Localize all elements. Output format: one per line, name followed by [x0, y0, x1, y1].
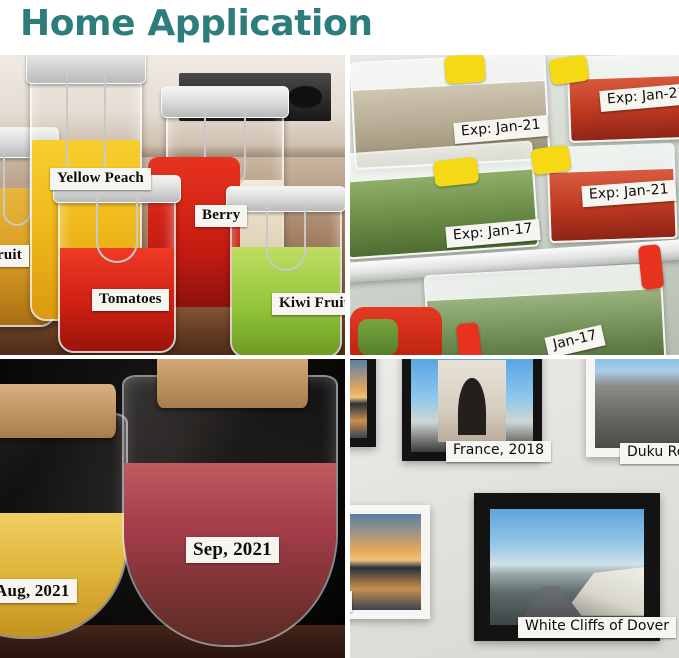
frame-partial-left — [350, 359, 376, 447]
cork-jars-photo: Aug, 2021 Sep, 2021 — [0, 359, 345, 658]
freezer-containers-photo: Exp: Jan-21 Exp: Jan-21 Exp: Jan-21 Exp:… — [350, 55, 679, 355]
jar-rose-buds — [122, 375, 338, 647]
photo-wall-photo: France, 2018 Duku Road White Cliffs of D… — [350, 359, 679, 658]
jar-label-fruit-partial: ruit — [0, 245, 29, 267]
container-clip-red — [638, 244, 664, 290]
frame-label-duku-road: Duku Road — [620, 443, 679, 464]
frame-label-white-cliffs-of-dover: White Cliffs of Dover — [518, 617, 676, 638]
quadrant-preserve-jars: ruit Yellow Peach Berry Tomatoes Kiwi Fr… — [0, 55, 345, 355]
product-feature-image: Home Application — [0, 0, 679, 658]
container-clip-yellow — [548, 55, 589, 86]
jar-label-sep-2021: Sep, 2021 — [186, 537, 279, 563]
container-clip-red — [456, 322, 482, 355]
jar-label-yellow-peach: Yellow Peach — [50, 168, 151, 190]
green-pepper — [358, 319, 398, 355]
quadrant-photo-wall: France, 2018 Duku Road White Cliffs of D… — [350, 359, 679, 658]
jar-tomatoes — [58, 193, 176, 353]
container-clip-yellow — [433, 157, 479, 187]
container-clip-yellow — [444, 55, 486, 84]
jar-label-kiwi-fruit: Kiwi Fruit — [272, 293, 345, 315]
preserve-jars-photo: ruit Yellow Peach Berry Tomatoes Kiwi Fr… — [0, 55, 345, 355]
jar-chrysanthemum — [0, 413, 128, 639]
frame-label-france-2018: France, 2018 — [446, 441, 551, 462]
quadrant-freezer-containers: Exp: Jan-21 Exp: Jan-21 Exp: Jan-21 Exp:… — [350, 55, 679, 355]
quadrant-cork-jars: Aug, 2021 Sep, 2021 — [0, 359, 345, 658]
jar-label-tomatoes: Tomatoes — [92, 289, 169, 311]
page-title: Home Application — [20, 2, 373, 46]
frame-sunset — [350, 505, 430, 619]
frame-label-partial-left — [350, 591, 352, 612]
burner-icon — [289, 86, 322, 107]
image-collage: ruit Yellow Peach Berry Tomatoes Kiwi Fr… — [0, 55, 679, 658]
container-clip-yellow — [530, 144, 571, 175]
jar-label-aug-2021: Aug, 2021 — [0, 579, 77, 603]
jar-label-berry: Berry — [195, 205, 247, 227]
